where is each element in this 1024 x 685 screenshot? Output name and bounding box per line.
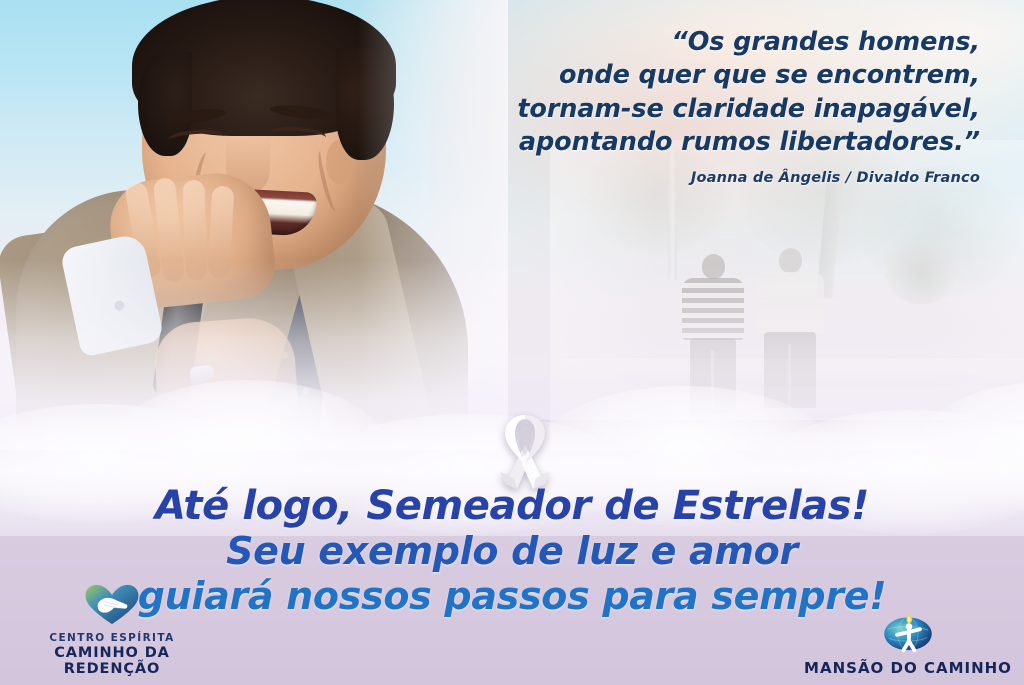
portrait-divaldo-franco — [8, 0, 478, 434]
logo-centro-espirita-caminho-da-redencao: CENTRO ESPÍRITA CAMINHO DA REDENÇÃO — [8, 584, 216, 677]
quote-line-3: tornam-se claridade inapagável, — [420, 93, 980, 126]
quote-attribution: Joanna de Ângelis / Divaldo Franco — [420, 170, 980, 186]
memorial-poster: “Os grandes homens, onde quer que se enc… — [0, 0, 1024, 685]
headline-line-1: Até logo, Semeador de Estrelas! — [0, 486, 1024, 526]
logo-left-line-1: CENTRO ESPÍRITA — [8, 632, 216, 644]
quote-text: “Os grandes homens, onde quer que se enc… — [420, 26, 980, 160]
quote-line-4: apontando rumos libertadores.” — [420, 126, 980, 159]
quote-line-2: onde quer que se encontrem, — [420, 59, 980, 92]
logo-right-line-1: MANSÃO DO CAMINHO — [800, 659, 1016, 677]
heart-hand-logo-icon — [8, 584, 216, 630]
quote-line-1: “Os grandes homens, — [420, 26, 980, 59]
white-mourning-ribbon-icon — [487, 410, 563, 490]
logo-mansao-do-caminho: MANSÃO DO CAMINHO — [800, 611, 1016, 677]
headline-line-2: Seu exemplo de luz e amor — [0, 532, 1024, 570]
logo-left-line-2: CAMINHO DA REDENÇÃO — [8, 645, 216, 677]
globe-figure-flame-logo-icon — [800, 611, 1016, 657]
